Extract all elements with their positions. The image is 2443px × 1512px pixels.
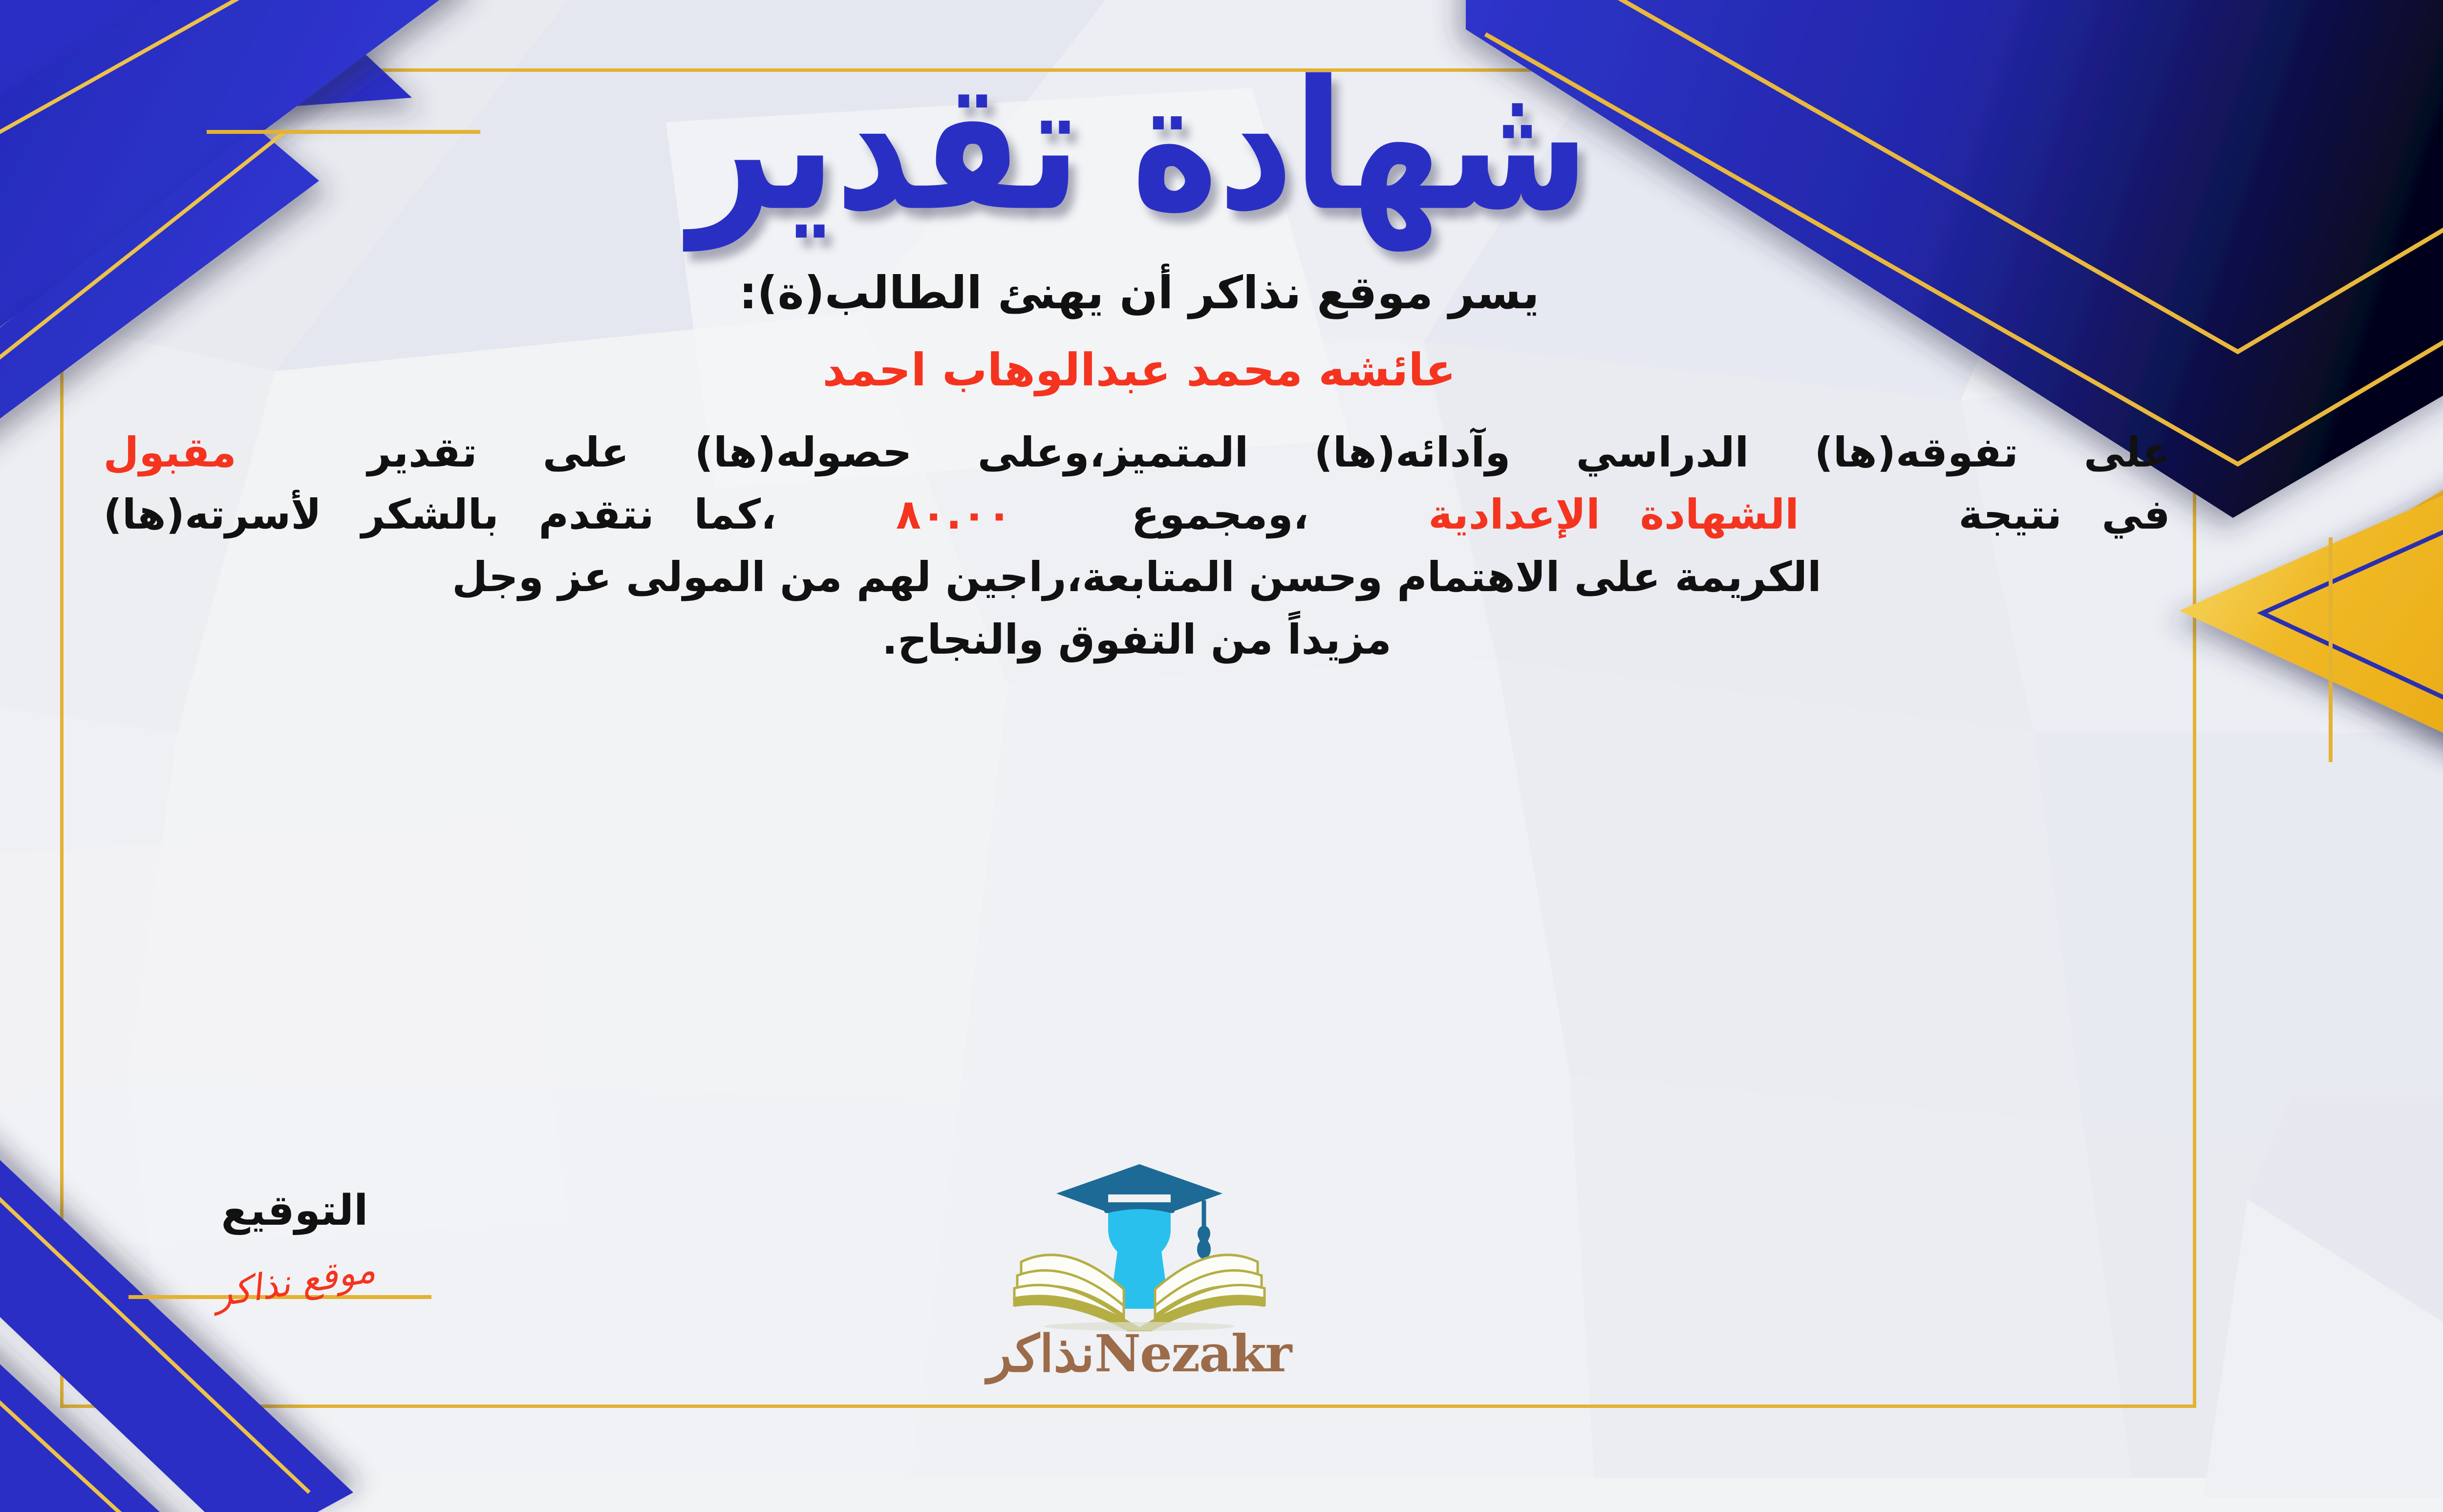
total-label: ،ومجموع <box>1131 490 1308 538</box>
total-score: ٨٠.٠٠ <box>896 490 1012 538</box>
result-prefix: في نتيجة <box>1958 490 2170 538</box>
paragraph-line-2: في نتيجة الشهادة الإعدادية ،ومجموع ٨٠.٠٠… <box>104 484 2170 546</box>
achievement-text: على تفوقه(ها) الدراسي وآدائه(ها) المتميز… <box>367 428 2170 476</box>
graduate-book-logo-icon <box>1012 1155 1266 1331</box>
exam-name: الشهادة الإعدادية <box>1428 490 1799 538</box>
certificate-paragraph: على تفوقه(ها) الدراسي وآدائه(ها) المتميز… <box>96 422 2178 671</box>
grade-value: مقبول <box>104 428 236 476</box>
certificate-title: شهادة تقدير <box>689 57 1589 236</box>
certificate-body: يسر موقع نذاكر أن يهنئ الطالب(ة): عائشه … <box>101 261 2178 671</box>
paragraph-line-4: مزيداً من التفوق والنجاح. <box>96 609 2178 671</box>
logo-area: Nezakrنذاكر <box>954 1155 1325 1379</box>
signature-label: التوقيع <box>148 1190 441 1232</box>
logo-text: Nezakrنذاكر <box>954 1328 1325 1379</box>
signature-mark: موقع نذاكر <box>211 1249 378 1316</box>
paragraph-line-1: على تفوقه(ها) الدراسي وآدائه(ها) المتميز… <box>104 422 2170 484</box>
signature-area: التوقيع موقع نذاكر <box>148 1190 441 1303</box>
paragraph-line-3: الكريمة على الاهتمام وحسن المتابعة،راجين… <box>96 546 2178 609</box>
congratulation-line: يسر موقع نذاكر أن يهنئ الطالب(ة): <box>101 261 2178 325</box>
title-block: شهادة تقدير <box>0 51 2443 242</box>
certificate-footer: التوقيع موقع نذاكر <box>0 1150 2443 1424</box>
thanks-text: ،كما نتقدم بالشكر لأسرته(ها) <box>104 490 776 538</box>
student-name: عائشه محمد عبدالوهاب احمد <box>101 344 2178 396</box>
